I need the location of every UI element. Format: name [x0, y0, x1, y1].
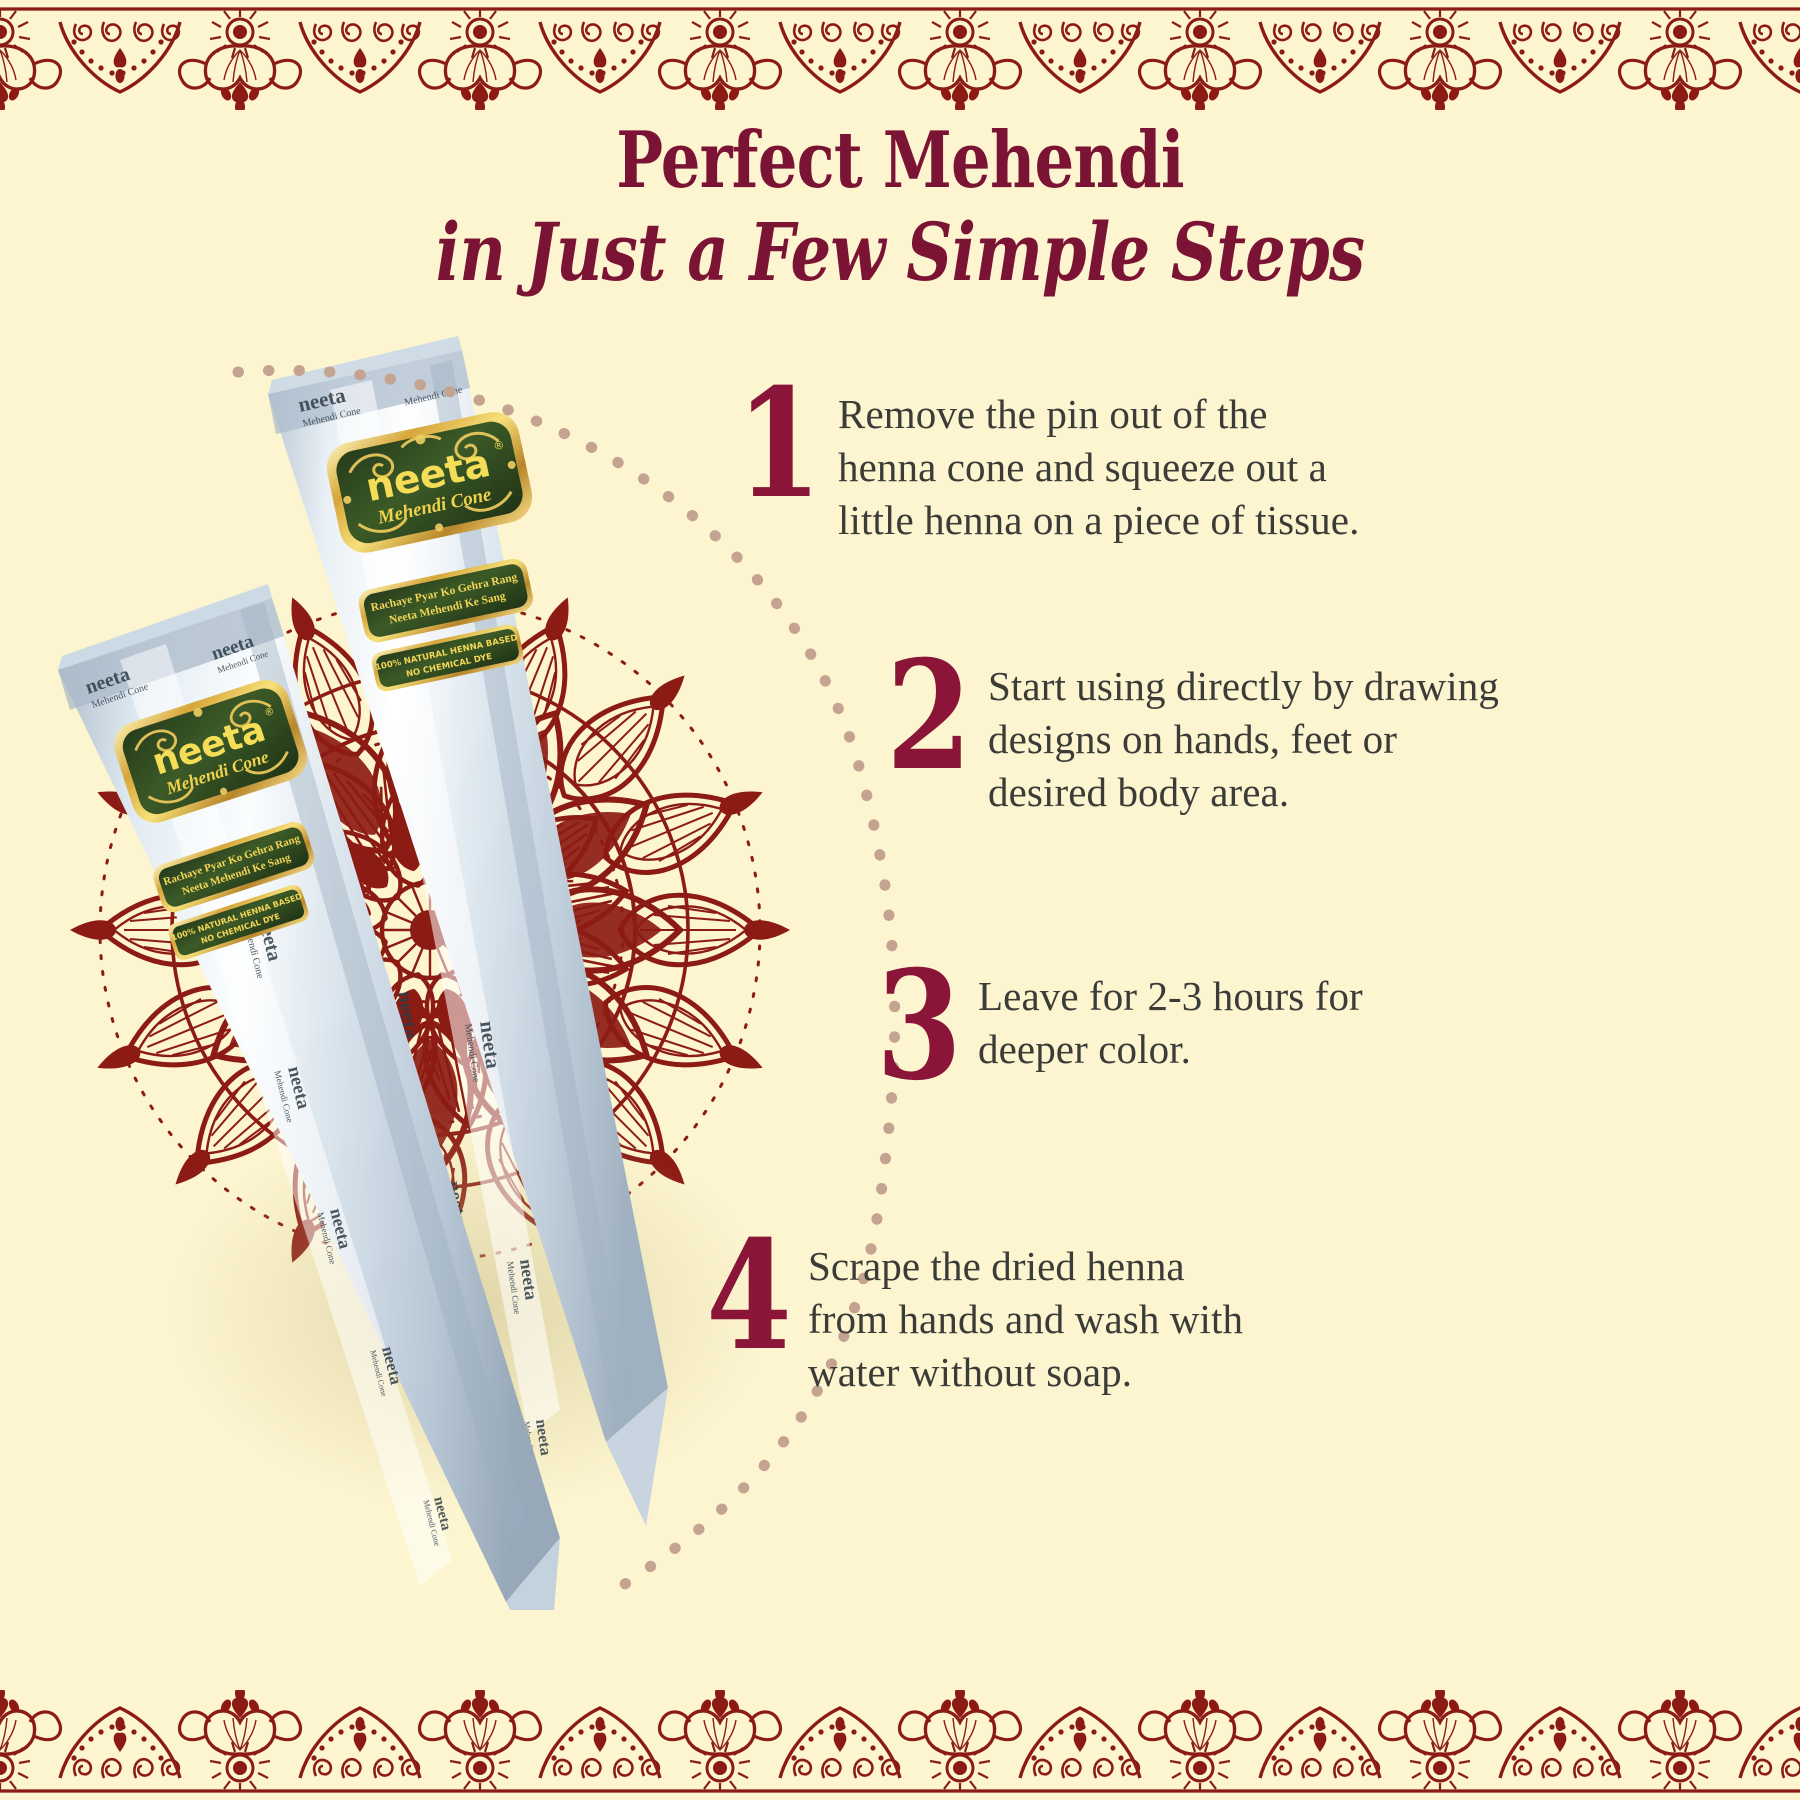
page-title: Perfect Mehendi in Just a Few Simple Ste… [0, 118, 1800, 300]
steps-list: 1 Remove the pin out of the henna cone a… [760, 330, 1760, 1630]
step-item-3: 3 Leave for 2-3 hours for deeper color. [860, 960, 1363, 1092]
step-1-line-1: Remove the pin out of the [838, 388, 1359, 441]
step-number-1: 1 [731, 378, 828, 510]
step-number-2: 2 [881, 650, 978, 782]
step-2-line-3: desired body area. [988, 766, 1499, 819]
henna-floral-border-top [0, 0, 1800, 110]
title-line-1: Perfect Mehendi [180, 118, 1620, 204]
step-text-4: Scrape the dried henna from hands and wa… [808, 1230, 1243, 1399]
step-text-2: Start using directly by drawing designs … [988, 650, 1499, 819]
step-item-1: 1 Remove the pin out of the henna cone a… [720, 378, 1359, 547]
step-1-line-3: little henna on a piece of tissue. [838, 494, 1359, 547]
step-2-line-2: designs on hands, feet or [988, 713, 1499, 766]
step-1-line-2: henna cone and squeeze out a [838, 441, 1359, 494]
step-number-3: 3 [871, 960, 968, 1092]
step-4-line-3: water without soap. [808, 1346, 1243, 1399]
step-number-4: 4 [701, 1230, 798, 1362]
step-4-line-2: from hands and wash with [808, 1293, 1243, 1346]
step-item-4: 4 Scrape the dried henna from hands and … [690, 1230, 1243, 1399]
step-text-1: Remove the pin out of the henna cone and… [838, 378, 1359, 547]
step-text-3: Leave for 2-3 hours for deeper color. [978, 960, 1363, 1076]
title-line-2: in Just a Few Simple Steps [180, 204, 1620, 300]
step-item-2: 2 Start using directly by drawing design… [870, 650, 1499, 819]
infographic-canvas: Perfect Mehendi in Just a Few Simple Ste… [0, 0, 1800, 1800]
henna-floral-border-bottom [0, 1690, 1800, 1800]
step-2-line-1: Start using directly by drawing [988, 660, 1499, 713]
step-3-line-1: Leave for 2-3 hours for [978, 970, 1363, 1023]
step-3-line-2: deeper color. [978, 1023, 1363, 1076]
step-4-line-1: Scrape the dried henna [808, 1240, 1243, 1293]
